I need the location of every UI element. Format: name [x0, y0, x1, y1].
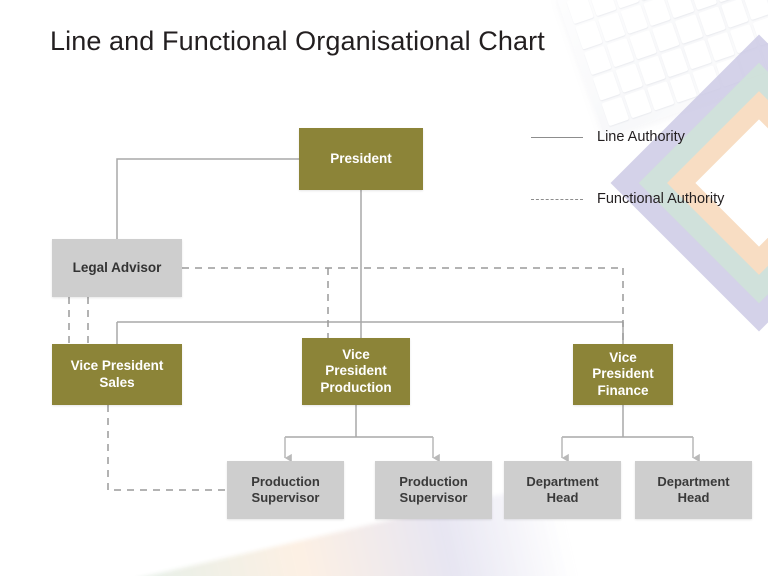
node-vp-finance-line-3: Finance [597, 383, 648, 398]
node-vp-finance-line-1: Vice [609, 350, 637, 365]
node-vp-production[interactable]: Vice President Production [302, 338, 410, 405]
node-legal-advisor[interactable]: Legal Advisor [52, 239, 182, 297]
legend-label-line-authority: Line Authority [597, 129, 685, 145]
dashed-vp-sales-to-production-supervisor [108, 405, 225, 490]
node-department-head-2[interactable]: Department Head [635, 461, 752, 519]
node-department-head-1-line-2: Head [547, 490, 579, 505]
node-department-head-1-label: Department Head [526, 474, 598, 506]
node-department-head-1[interactable]: Department Head [504, 461, 621, 519]
node-vp-production-line-2: President [325, 363, 387, 378]
node-president-label: President [330, 151, 392, 167]
node-vp-finance-label: Vice President Finance [592, 350, 654, 399]
legend-item-line-authority: Line Authority [531, 126, 763, 148]
node-production-supervisor-1-line-1: Production [251, 474, 320, 489]
node-president[interactable]: President [299, 128, 423, 190]
node-vp-finance-line-2: President [592, 366, 654, 381]
legend-swatch-solid-icon [531, 137, 583, 138]
node-vp-finance[interactable]: Vice President Finance [573, 344, 673, 405]
node-vp-sales-line-1: Vice President [71, 358, 164, 373]
node-vp-production-label: Vice President Production [320, 347, 391, 396]
legend-swatch-dashed-icon [531, 199, 583, 200]
node-production-supervisor-1[interactable]: Production Supervisor [227, 461, 344, 519]
node-production-supervisor-2[interactable]: Production Supervisor [375, 461, 492, 519]
node-production-supervisor-2-line-2: Supervisor [400, 490, 468, 505]
node-department-head-2-line-1: Department [657, 474, 729, 489]
line-president-to-legal-advisor [117, 159, 299, 239]
slide-canvas: Line and Functional Organisational Chart [0, 0, 768, 576]
node-vp-sales-label: Vice President Sales [71, 358, 164, 391]
legend-item-functional-authority: Functional Authority [531, 188, 763, 210]
node-production-supervisor-2-label: Production Supervisor [399, 474, 468, 506]
node-department-head-1-line-1: Department [526, 474, 598, 489]
node-department-head-2-label: Department Head [657, 474, 729, 506]
page-title: Line and Functional Organisational Chart [50, 26, 545, 57]
line-authority-arrows [285, 437, 693, 458]
node-production-supervisor-1-label: Production Supervisor [251, 474, 320, 506]
node-legal-advisor-label: Legal Advisor [73, 260, 162, 276]
node-vp-production-line-3: Production [320, 380, 391, 395]
node-department-head-2-line-2: Head [678, 490, 710, 505]
node-production-supervisor-1-line-2: Supervisor [252, 490, 320, 505]
legend-label-functional-authority: Functional Authority [597, 191, 724, 207]
node-vp-sales-line-2: Sales [99, 375, 134, 390]
node-production-supervisor-2-line-1: Production [399, 474, 468, 489]
legend: Line Authority Functional Authority [531, 126, 763, 250]
node-vp-sales[interactable]: Vice President Sales [52, 344, 182, 405]
node-vp-production-line-1: Vice [342, 347, 370, 362]
